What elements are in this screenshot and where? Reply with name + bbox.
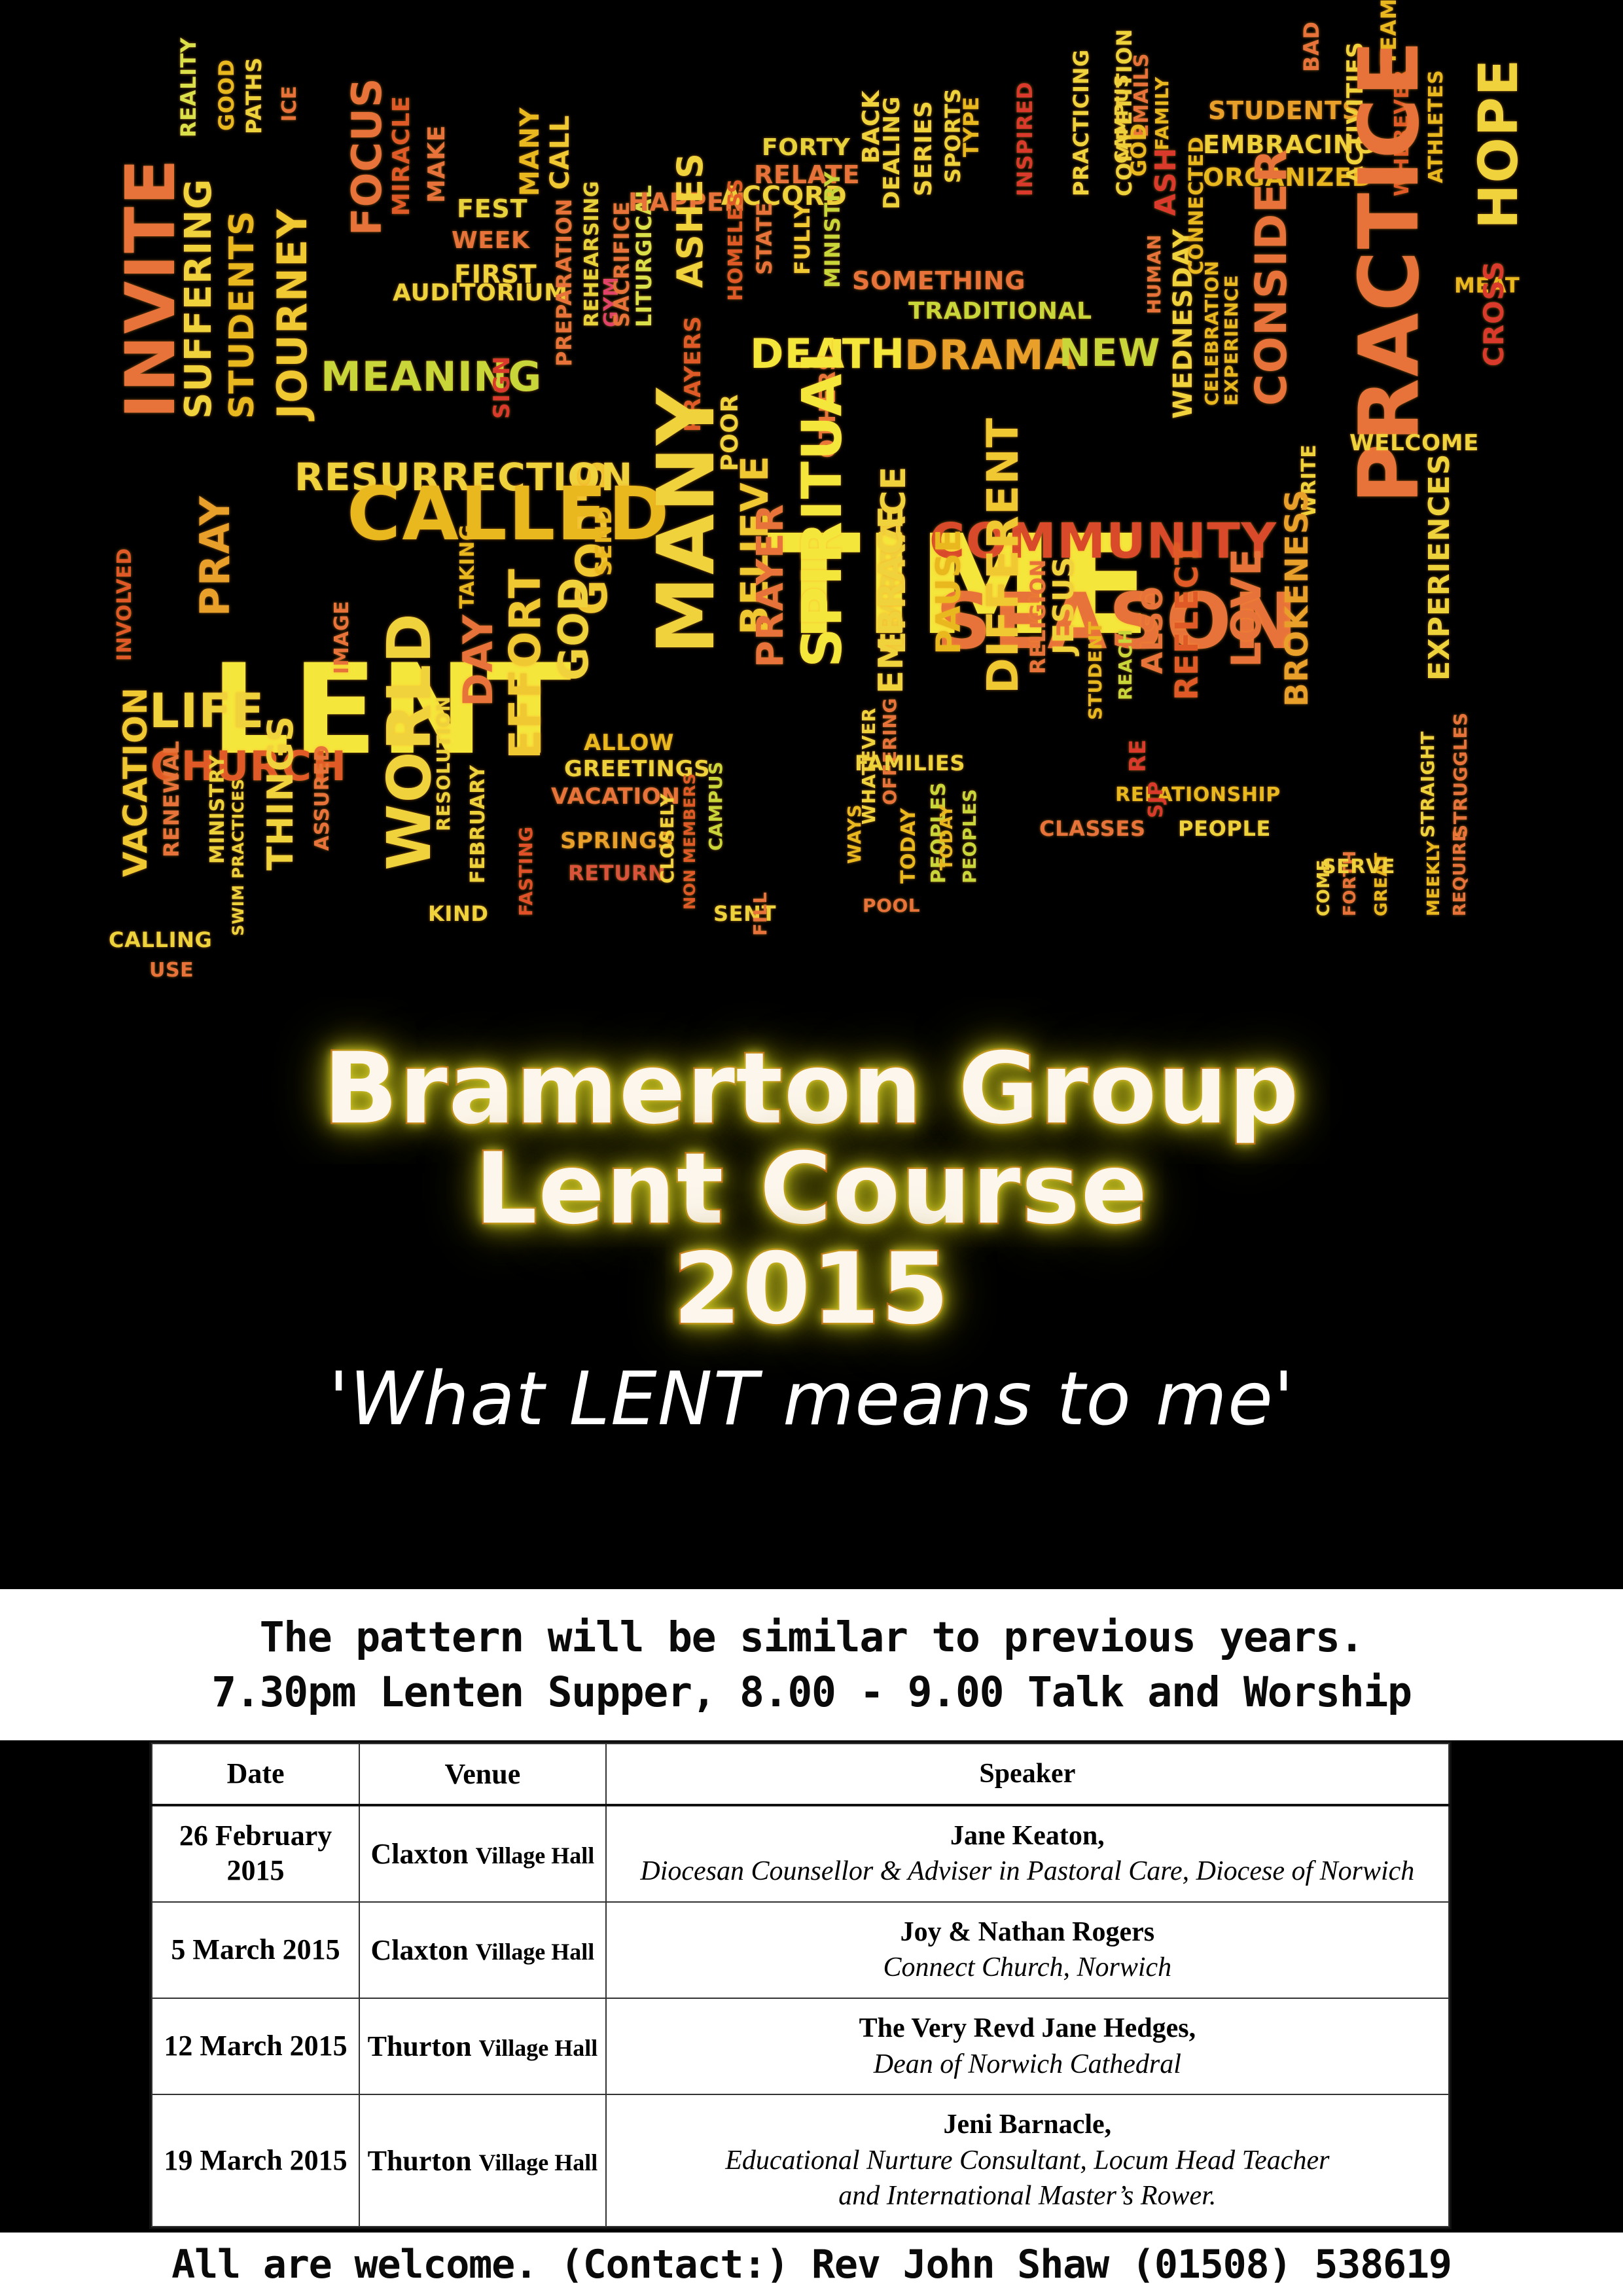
word-cloud-term: WORLD <box>380 612 440 870</box>
speaker-name: Jane Keaton, <box>613 1818 1442 1854</box>
word-cloud-term: PRACTICING <box>1071 49 1092 196</box>
venue-type: Village Hall <box>476 1939 595 1965</box>
word-cloud-term: MANY <box>517 107 543 196</box>
word-cloud-term: TODAY <box>899 808 919 884</box>
word-cloud-term: BAD <box>1301 21 1322 72</box>
info-band: The pattern will be similar to previous … <box>0 1589 1623 1740</box>
word-cloud-term: RELATIONSHIP <box>1115 785 1281 805</box>
cell-speaker: Jeni Barnacle,Educational Nurture Consul… <box>606 2094 1449 2227</box>
word-cloud-term: FAMILY <box>1153 77 1171 151</box>
poster-title-line-3: 2015 <box>673 1240 950 1340</box>
title-block: Bramerton Group Lent Course 2015 'What L… <box>0 1034 1623 1589</box>
word-cloud-term: TRADITIONAL <box>908 300 1092 323</box>
speaker-role: Dean of Norwich Cathedral <box>613 2047 1442 2083</box>
speaker-role-line2: and International Master’s Rower. <box>613 2178 1442 2214</box>
column-header-venue: Venue <box>359 1744 606 1805</box>
word-cloud-term: MINISTRY <box>208 755 228 864</box>
word-cloud-term: PEOPLE <box>1178 818 1271 839</box>
word-cloud-term: TYPE <box>961 96 982 157</box>
word-cloud-term: STUDENT <box>1086 621 1105 720</box>
word-cloud-term: NEW <box>1059 334 1161 372</box>
schedule-table: Date Venue Speaker 26 February 2015Claxt… <box>151 1743 1450 2227</box>
table-row: 19 March 2015Thurton Village HallJeni Ba… <box>152 2094 1449 2227</box>
word-cloud-term: ASH <box>1152 147 1181 216</box>
word-cloud-term: RESOLUTION <box>435 696 453 831</box>
word-cloud-term: WELCOME <box>1349 432 1479 454</box>
word-cloud-term: JESUS <box>1050 556 1079 655</box>
word-cloud-term: FORTY <box>762 136 851 160</box>
word-cloud-term: INSPIRED <box>1014 82 1035 196</box>
word-cloud-term: STUDENTS <box>1208 98 1361 123</box>
speaker-role: Educational Nurture Consultant, Locum He… <box>613 2143 1442 2179</box>
word-cloud-term: LOVE <box>1226 547 1267 668</box>
word-cloud-term: CLOSELY <box>658 793 677 884</box>
word-cloud-term: EXPERIENCES <box>1425 454 1454 681</box>
cell-date: 26 February 2015 <box>152 1805 359 1902</box>
word-cloud-term: MINISTRY <box>822 171 843 289</box>
word-cloud-term: PREPARATION <box>554 198 575 367</box>
word-cloud-term: ASHES <box>673 152 708 288</box>
word-cloud-term: PAUSE <box>932 529 966 655</box>
table-row: 5 March 2015Claxton Village HallJoy & Na… <box>152 1902 1449 1998</box>
word-cloud-term: CELEBRATION <box>1203 260 1221 406</box>
word-cloud-term: MANY <box>648 387 726 655</box>
word-cloud-term: CLASSES <box>1039 818 1146 839</box>
word-cloud-term: FULLY <box>792 203 813 275</box>
cell-date: 19 March 2015 <box>152 2094 359 2227</box>
word-cloud-term: SACRIFICE <box>611 201 632 327</box>
cell-date: 12 March 2015 <box>152 1998 359 2094</box>
word-cloud-term: REHEARSING <box>582 181 602 327</box>
word-cloud-term: IMAGE <box>332 601 352 674</box>
word-cloud-term: FAMILIES <box>855 753 965 774</box>
word-cloud-term: CALL <box>547 115 573 190</box>
footer-band: All are welcome. (Contact:) Rev John Sha… <box>0 2233 1623 2296</box>
word-cloud-term: HOMELESS <box>726 179 746 301</box>
speaker-name: Jeni Barnacle, <box>613 2107 1442 2143</box>
word-cloud-term: USE <box>149 961 194 980</box>
word-cloud-term: REFLECT <box>1171 543 1203 700</box>
venue-type: Village Hall <box>476 1842 595 1869</box>
speaker-role: Diocesan Counsellor & Adviser in Pastora… <box>613 1854 1442 1890</box>
word-cloud-image: INVITESUFFERINGSTUDENTSJOURNEYREALITYGOO… <box>0 0 1623 1034</box>
word-cloud-term: EMBRACE <box>874 505 908 694</box>
word-cloud-term: WAYS <box>846 804 864 864</box>
word-cloud-term: FIRST <box>454 262 537 287</box>
word-cloud-term: PRAYER <box>753 503 789 668</box>
word-cloud-term: FOCUS <box>347 77 387 236</box>
table-row: 26 February 2015Claxton Village HallJane… <box>152 1805 1449 1902</box>
word-cloud-term: PEOPLES <box>961 789 979 884</box>
word-cloud-term: TODAY <box>938 805 955 870</box>
cell-venue: Claxton Village Hall <box>359 1805 606 1902</box>
word-cloud-term: PATHS <box>243 57 264 134</box>
poster-title-line-1: Bramerton Group <box>323 1039 1300 1139</box>
cell-venue: Thurton Village Hall <box>359 1998 606 2094</box>
word-cloud-term: MIRACLE <box>390 96 414 216</box>
word-cloud-term: ALSO <box>1139 586 1168 674</box>
word-cloud-term: RETURN <box>568 863 666 884</box>
word-cloud-term: SPIRITUAL <box>794 336 849 668</box>
poster-subtitle: 'What LENT means to me' <box>329 1357 1294 1442</box>
table-header-row: Date Venue Speaker <box>152 1744 1449 1805</box>
footer-contact-text: All are welcome. (Contact:) Rev John Sha… <box>171 2242 1452 2287</box>
word-cloud-term: MEEKLY <box>1425 840 1442 916</box>
word-cloud-term: DRAMA <box>904 335 1077 376</box>
word-cloud-term: THINGS <box>263 715 298 870</box>
word-cloud-term: CALLING <box>109 929 212 950</box>
word-cloud-term: WEEK <box>452 229 530 253</box>
word-cloud-term: HUMAN <box>1145 234 1164 314</box>
poster-title-line-2: Lent Course <box>474 1139 1148 1240</box>
word-cloud-term: STRAIGHT <box>1419 731 1437 838</box>
word-cloud-term: SERVE <box>1322 857 1395 877</box>
word-cloud-term: ALLOW <box>584 732 674 754</box>
word-cloud-term: FEST <box>457 196 527 221</box>
word-cloud-term: POOL <box>863 897 920 915</box>
poster-root: INVITESUFFERINGSTUDENTSJOURNEYREALITYGOO… <box>0 0 1623 2296</box>
word-cloud-term: CAMPUS <box>707 761 725 851</box>
word-cloud-term: MAKE <box>425 125 449 203</box>
word-cloud-term: DEALING <box>881 96 903 209</box>
word-cloud-term: REALITY <box>178 37 199 137</box>
word-cloud-term: EFFORT <box>504 568 547 759</box>
word-cloud-term: LIFE <box>149 687 265 734</box>
word-cloud-term: SWIM PRACTICES <box>230 779 246 937</box>
word-cloud-term: SJP <box>1147 781 1166 818</box>
schedule-table-body: 26 February 2015Claxton Village HallJane… <box>152 1805 1449 2227</box>
word-cloud-term: VACATION <box>119 687 152 877</box>
word-cloud-term: CROSS <box>1480 260 1508 367</box>
word-cloud-term: INVITE <box>116 158 185 419</box>
table-row: 12 March 2015Thurton Village HallThe Ver… <box>152 1998 1449 2094</box>
word-cloud-term: DIFFERENT <box>982 417 1025 694</box>
word-cloud-term: EXPERIENCE <box>1222 275 1241 406</box>
venue-name: Claxton <box>371 1838 476 1870</box>
venue-type: Village Hall <box>479 2149 598 2176</box>
word-cloud-term: REACH <box>1116 629 1135 700</box>
word-cloud-term: CALLED <box>347 478 671 551</box>
word-cloud-term: STRUGGLES <box>1452 712 1470 838</box>
word-cloud-term: NON MEMBERS <box>682 773 698 910</box>
word-cloud-term: SERIES <box>912 101 936 196</box>
venue-name: Thurton <box>368 2030 479 2062</box>
word-cloud-term: RE <box>1127 739 1149 772</box>
cell-date: 5 March 2015 <box>152 1902 359 1998</box>
word-cloud-term: CONSIDER <box>1250 149 1293 406</box>
word-cloud-term: BROKENESS <box>1281 489 1313 707</box>
word-cloud-term: FILL <box>751 892 770 936</box>
schedule-table-wrapper: Date Venue Speaker 26 February 2015Claxt… <box>149 1741 1452 2229</box>
word-cloud-term: REQUIRE <box>1452 830 1469 916</box>
word-cloud-term: HOPE <box>1472 58 1526 229</box>
word-cloud-term: FEBRUARY <box>469 764 488 884</box>
speaker-name: Joy & Nathan Rogers <box>613 1914 1442 1950</box>
word-cloud-term: FASTING <box>517 826 535 916</box>
word-cloud-term: RELIGION <box>1027 559 1048 674</box>
cell-speaker: Jane Keaton,Diocesan Counsellor & Advise… <box>606 1805 1449 1902</box>
word-cloud-term: RENEWAL <box>161 740 182 857</box>
word-cloud-term: PRAY <box>195 495 236 617</box>
cell-speaker: The Very Revd Jane Hedges,Dean of Norwic… <box>606 1998 1449 2094</box>
word-cloud-term: CAMPUS <box>1113 74 1131 164</box>
cell-venue: Claxton Village Hall <box>359 1902 606 1998</box>
venue-name: Thurton <box>368 2145 479 2177</box>
word-cloud-term: SOMETHING <box>852 268 1026 293</box>
word-cloud-term: ICE <box>280 86 300 122</box>
word-cloud-term: DAY <box>458 614 499 707</box>
speaker-role: Connect Church, Norwich <box>613 1950 1442 1986</box>
cell-venue: Thurton Village Hall <box>359 2094 606 2227</box>
info-line-1: The pattern will be similar to previous … <box>260 1610 1364 1664</box>
word-cloud-term: STUDENTS <box>225 210 259 419</box>
word-cloud-term: KIND <box>428 903 489 924</box>
schedule-table-head: Date Venue Speaker <box>152 1744 1449 1805</box>
column-header-speaker: Speaker <box>606 1744 1449 1805</box>
word-cloud-term: ASSURED <box>313 745 332 851</box>
word-cloud-term: GOOD <box>216 59 237 131</box>
word-cloud-term: GOD <box>554 577 594 681</box>
word-cloud-term: INVOLVED <box>115 548 135 661</box>
word-cloud-term: SIGN <box>491 356 513 419</box>
speaker-name: The Very Revd Jane Hedges, <box>613 2011 1442 2047</box>
venue-name: Claxton <box>371 1934 476 1966</box>
cell-speaker: Joy & Nathan RogersConnect Church, Norwi… <box>606 1902 1449 1998</box>
column-header-date: Date <box>152 1744 359 1805</box>
info-line-2: 7.30pm Lenten Supper, 8.00 - 9.00 Talk a… <box>211 1665 1411 1719</box>
word-cloud-term: STATE <box>754 202 775 275</box>
word-cloud-term: JOURNEY <box>272 208 313 419</box>
venue-type: Village Hall <box>479 2035 598 2061</box>
word-cloud-term: SUFFERING <box>181 179 217 419</box>
